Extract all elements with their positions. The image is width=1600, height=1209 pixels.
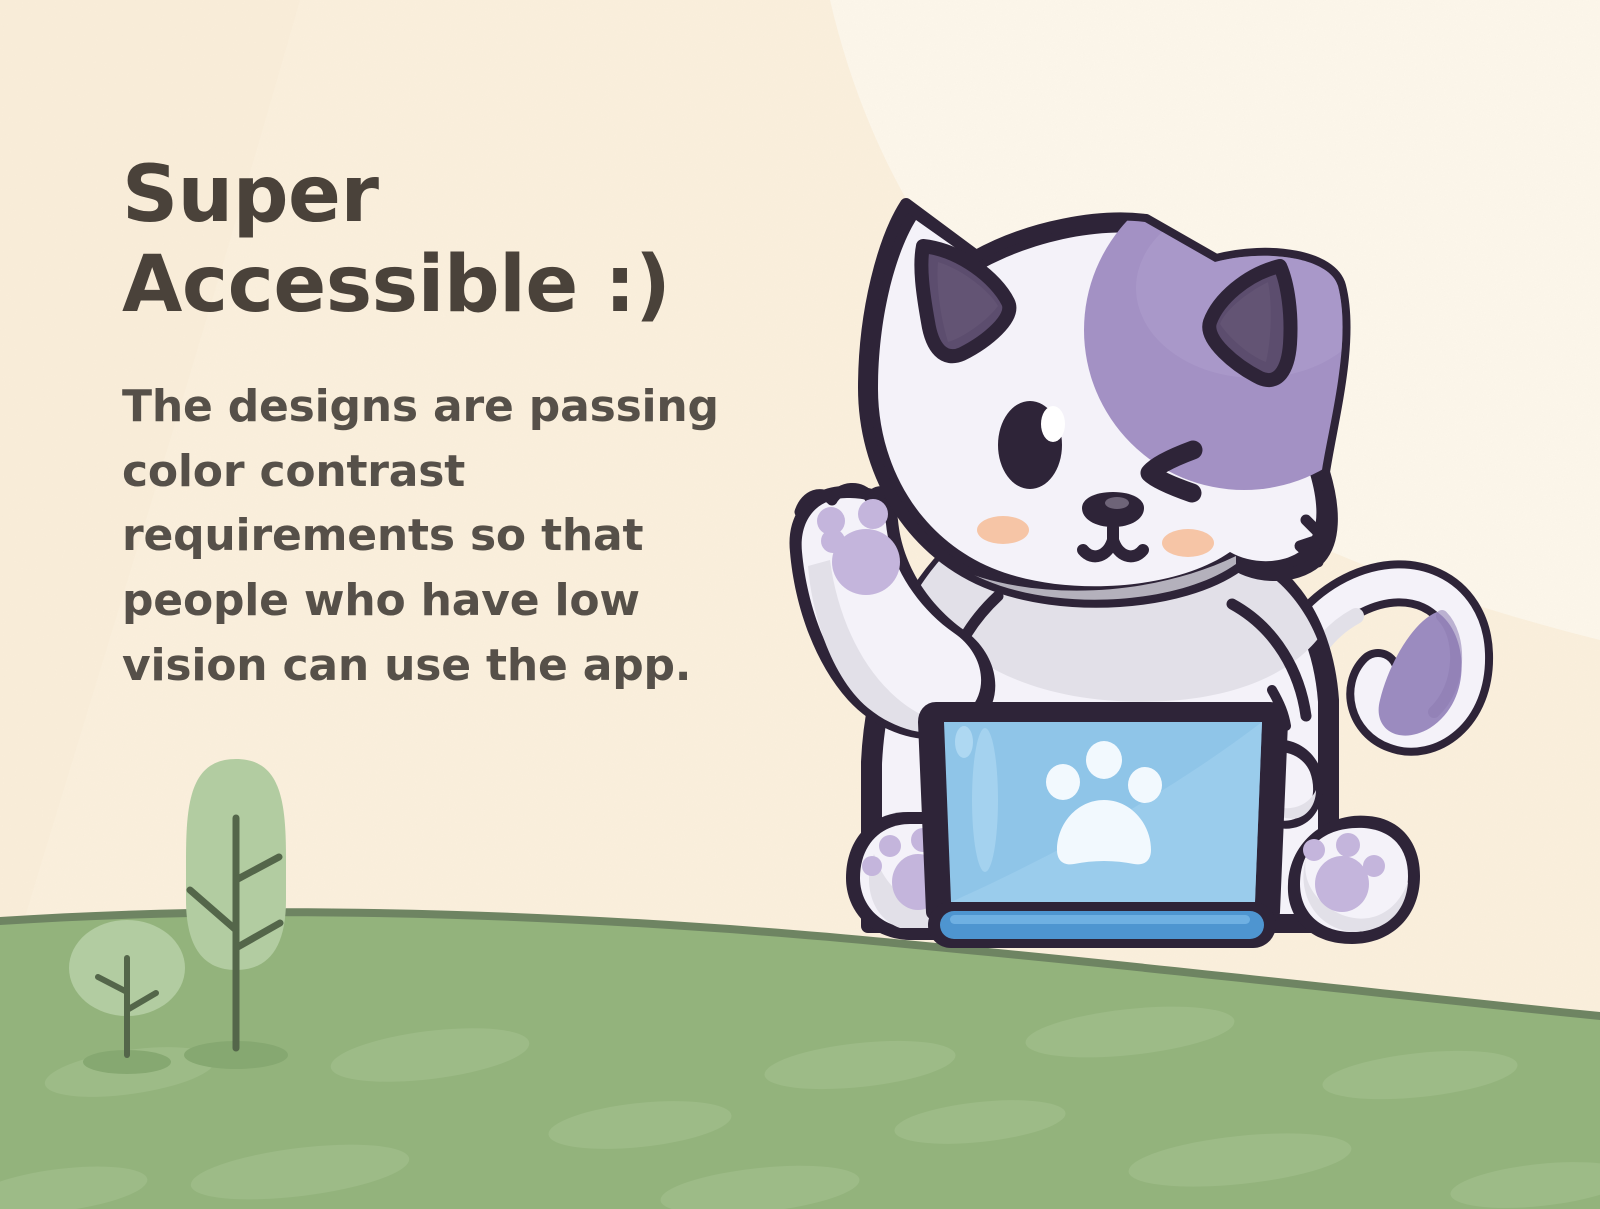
paw-right-toe-pad-3 <box>1363 855 1385 877</box>
nose <box>1082 492 1144 527</box>
laptop <box>926 710 1280 948</box>
paw-left-toe-pad-3 <box>862 856 882 876</box>
logo-toe-3 <box>1128 767 1162 803</box>
raised-paw-toe-pad-3 <box>821 529 845 553</box>
nose-highlight <box>1105 497 1129 509</box>
paw-right-toe-pad-2 <box>1336 833 1360 857</box>
cat-head <box>864 170 1404 620</box>
logo-toe-2 <box>1046 764 1080 800</box>
paw-right-toe-pad-1 <box>1303 839 1325 861</box>
laptop-base-highlight <box>950 915 1250 924</box>
laptop-screen-sheen-dot <box>955 726 973 758</box>
paw-right-main-pad <box>1315 856 1369 912</box>
paw-left-toe-pad-1 <box>879 835 901 857</box>
page-title: Super Accessible :) <box>122 150 762 331</box>
text-block: Super Accessible :) The designs are pass… <box>122 150 762 698</box>
body-paragraph: The designs are passing color contrast r… <box>122 331 742 698</box>
eye-highlight <box>1041 406 1065 442</box>
laptop-screen-sheen-streak <box>972 728 998 872</box>
raised-paw-toe-pad-2 <box>858 499 888 529</box>
blush-right <box>1162 529 1214 557</box>
slide-canvas: Super Accessible :) The designs are pass… <box>0 0 1600 1209</box>
logo-toe-1 <box>1086 741 1122 779</box>
blush-left <box>977 516 1029 544</box>
